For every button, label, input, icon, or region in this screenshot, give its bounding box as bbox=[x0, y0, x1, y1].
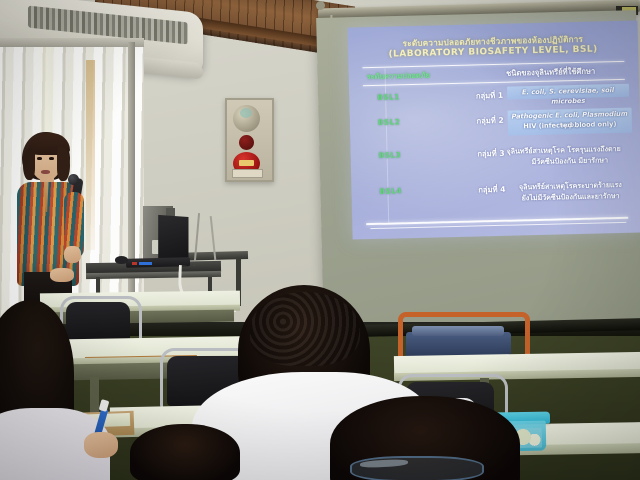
bsl-level-2: BSL2 bbox=[378, 117, 401, 127]
orange-chair-cushion bbox=[412, 326, 504, 336]
blind-rail bbox=[0, 38, 144, 47]
chair-backrest-back-row bbox=[66, 302, 130, 342]
fire-alarm-panel bbox=[225, 98, 274, 182]
bsl-group-1: กลุ่มที่ 1 bbox=[441, 90, 503, 104]
student-hair-bottom-center bbox=[130, 424, 240, 480]
classroom-photo: ระดับความปลอดภัยทางชีวภาพของห้องปฏิบัติก… bbox=[0, 0, 640, 480]
bsl-group-2: กลุ่มที่ 2 bbox=[442, 115, 504, 129]
presenter-hand-on-desk bbox=[50, 268, 74, 282]
alarm-indicator-icon bbox=[239, 135, 254, 150]
presenter-hand-mic bbox=[64, 246, 81, 263]
presenter-eye-right bbox=[49, 157, 54, 160]
eyeglasses bbox=[350, 456, 484, 480]
bsl-level-4: BSL4 bbox=[379, 186, 402, 196]
student-hand-holding-pen bbox=[84, 432, 118, 458]
bsl-level-3: BSL3 bbox=[378, 150, 401, 160]
student-table-row2-leg-left bbox=[90, 377, 99, 413]
bsl-group-4: กลุ่มที่ 4 bbox=[443, 184, 505, 198]
presenter-mouth bbox=[41, 170, 50, 174]
presenter-hair-left bbox=[23, 148, 35, 180]
alarm-nameplate bbox=[232, 169, 263, 178]
roller-end-left bbox=[316, 1, 325, 10]
window-amber-strip bbox=[86, 60, 95, 250]
laptop-led-blue bbox=[139, 262, 152, 265]
laptop-led-red bbox=[132, 262, 137, 265]
bsl-level-1: BSL1 bbox=[377, 92, 400, 102]
bsl-organisms-1: E. coli, S. cerevisiae, soil microbes bbox=[507, 86, 629, 108]
computer-mouse bbox=[115, 256, 128, 264]
projected-slide: ระดับความปลอดภัยทางชีวภาพของห้องปฏิบัติก… bbox=[347, 20, 640, 239]
alarm-bell-highlight bbox=[240, 108, 252, 118]
student-curly-texture bbox=[250, 292, 360, 366]
alarm-call-point-label bbox=[239, 160, 254, 166]
presenter-eye-left bbox=[37, 157, 42, 160]
bsl-group-3: กลุ่มที่ 3 bbox=[442, 148, 504, 162]
microphone-head-icon bbox=[68, 174, 79, 185]
